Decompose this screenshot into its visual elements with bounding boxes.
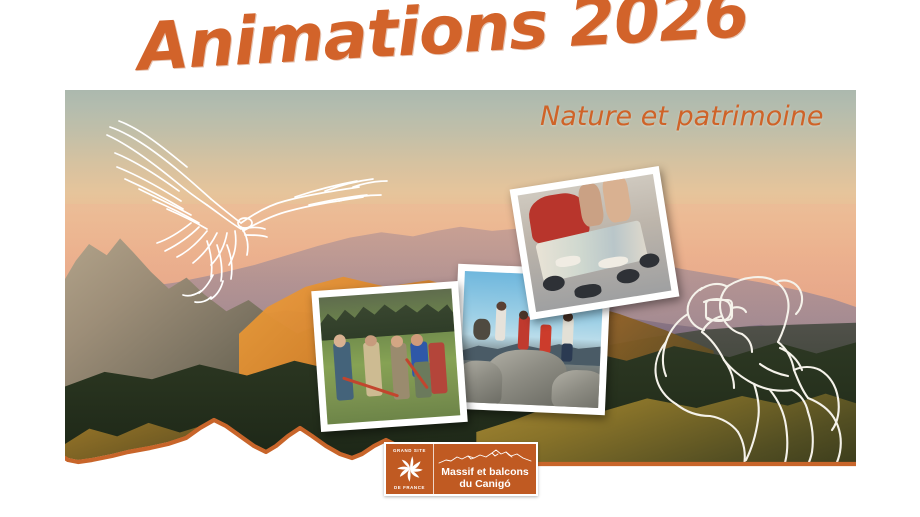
photo-map bbox=[510, 166, 680, 320]
decor-shape bbox=[562, 317, 574, 346]
logo-badge: GRAND SITE DE FRANCE bbox=[386, 444, 434, 494]
decor-shape bbox=[429, 342, 448, 394]
decor-shape bbox=[333, 341, 354, 400]
photo-trail-image bbox=[319, 289, 461, 425]
decor-shape bbox=[473, 319, 491, 341]
decor-shape bbox=[517, 315, 530, 349]
sunburst-pinwheel-icon bbox=[395, 454, 425, 484]
decor-shape bbox=[390, 343, 410, 400]
decor-shape bbox=[319, 289, 455, 341]
decor-shape bbox=[561, 343, 573, 362]
grand-site-de-france-logo[interactable]: GRAND SITE DE FRANCE bbox=[384, 442, 538, 496]
page-subtitle: Nature et patrimoine bbox=[540, 101, 823, 132]
logo-name-line1: Massif et balcons bbox=[441, 466, 529, 478]
decor-shape bbox=[601, 174, 633, 224]
photo-map-image bbox=[518, 174, 672, 312]
mountain-outline-icon bbox=[438, 449, 532, 466]
poster-canvas: Animations 2026 Nature et patrimoine GRA… bbox=[0, 0, 920, 517]
decor-shape bbox=[574, 283, 603, 300]
photo-trail bbox=[311, 281, 467, 432]
decor-shape bbox=[539, 324, 551, 353]
decor-shape bbox=[616, 267, 641, 285]
logo-badge-bottom-text: DE FRANCE bbox=[394, 485, 425, 490]
logo-badge-top-text: GRAND SITE bbox=[393, 448, 426, 453]
decor-shape bbox=[495, 307, 506, 341]
decor-shape bbox=[551, 369, 604, 408]
logo-wordmark: Massif et balcons du Canigó bbox=[434, 444, 536, 494]
logo-name-line2: du Canigó bbox=[459, 478, 510, 490]
decor-shape bbox=[364, 335, 377, 347]
